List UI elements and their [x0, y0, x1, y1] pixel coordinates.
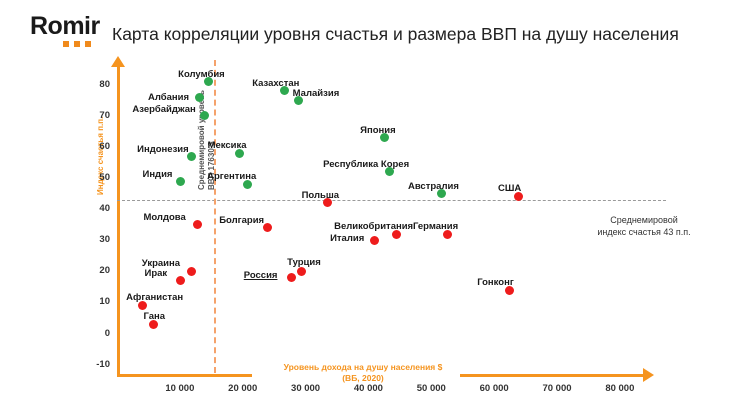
data-point-label: Великобритания [334, 221, 413, 232]
y-axis-tick-label: 0 [76, 328, 110, 339]
gdp-label-line1: Среднемировой уровень [197, 90, 207, 190]
x-axis-tick-label: 60 000 [459, 383, 529, 394]
x-axis-tick-label: 50 000 [396, 383, 466, 394]
y-axis-tick-label: 70 [76, 110, 110, 121]
y-axis-tick-label: 10 [76, 296, 110, 307]
data-point-label: Австралия [408, 181, 459, 192]
y-axis-tick-label: 30 [76, 234, 110, 245]
data-point-red[interactable] [370, 236, 379, 245]
x-axis-title-line1: Уровень дохода на душу населения $ [258, 362, 468, 373]
data-point-red[interactable] [287, 273, 296, 282]
data-point-red[interactable] [176, 276, 185, 285]
data-point-label: Аргентина [207, 171, 256, 182]
x-axis-tick-label: 70 000 [522, 383, 592, 394]
y-axis-tick-label: 20 [76, 265, 110, 276]
x-axis-line-left [117, 374, 252, 377]
x-axis-arrow-icon [643, 368, 654, 382]
x-axis-tick-label: 10 000 [145, 383, 215, 394]
data-point-label: Германия [413, 221, 458, 232]
y-axis-tick-label: 80 [76, 79, 110, 90]
y-axis-tick-label: -10 [76, 359, 110, 370]
data-point-label: Индия [142, 169, 172, 180]
data-point-label: Мексика [208, 140, 247, 151]
x-axis-tick-label: 20 000 [208, 383, 278, 394]
data-point-green[interactable] [176, 177, 185, 186]
data-point-label: Япония [360, 125, 396, 136]
data-point-label: Индонезия [137, 144, 189, 155]
screenshot-root: Romir Карта корреляции уровня счастья и … [0, 0, 740, 416]
data-point-label: Афганистан [126, 292, 183, 303]
data-point-label: Колумбия [178, 69, 225, 80]
y-axis-tick-label: 60 [76, 141, 110, 152]
x-axis-title: Уровень дохода на душу населения $ (ВБ, … [258, 362, 468, 384]
data-point-label: Казахстан [252, 78, 299, 89]
data-point-label: Малайзия [293, 88, 340, 99]
y-axis-tick-label: 40 [76, 203, 110, 214]
data-point-label: Польша [302, 190, 339, 201]
happiness-average-note: Среднемировой индекс счастья 43 п.п. [556, 214, 732, 238]
data-point-label: Молдова [143, 212, 185, 223]
happiness-average-reference-line [117, 200, 666, 201]
scatter-chart: Индекс счастья п.п. Уровень дохода на ду… [0, 0, 740, 416]
x-axis-tick-label: 40 000 [333, 383, 403, 394]
data-point-label: Гонконг [477, 277, 514, 288]
x-axis-line-right [460, 374, 645, 377]
y-axis-line [117, 63, 120, 375]
data-point-label: Италия [330, 233, 364, 244]
happiness-note-line1: Среднемировой [556, 214, 732, 226]
data-point-label: Ирак [144, 268, 167, 279]
y-axis-title: Индекс счастья п.п. [96, 117, 105, 195]
data-point-label: Болгария [219, 215, 264, 226]
data-point-label: Азербайджан [132, 104, 195, 115]
data-point-label: Албания [148, 92, 189, 103]
data-point-label: Россия [244, 270, 278, 281]
happiness-note-line2: индекс счастья 43 п.п. [556, 226, 732, 238]
data-point-label: Гана [143, 311, 165, 322]
data-point-red[interactable] [193, 220, 202, 229]
y-axis-tick-label: 50 [76, 172, 110, 183]
x-axis-tick-label: 30 000 [271, 383, 341, 394]
x-axis-tick-label: 80 000 [585, 383, 655, 394]
data-point-label: Республика Корея [323, 159, 409, 170]
data-point-label: США [498, 183, 521, 194]
data-point-red[interactable] [187, 267, 196, 276]
data-point-label: Турция [287, 257, 321, 268]
